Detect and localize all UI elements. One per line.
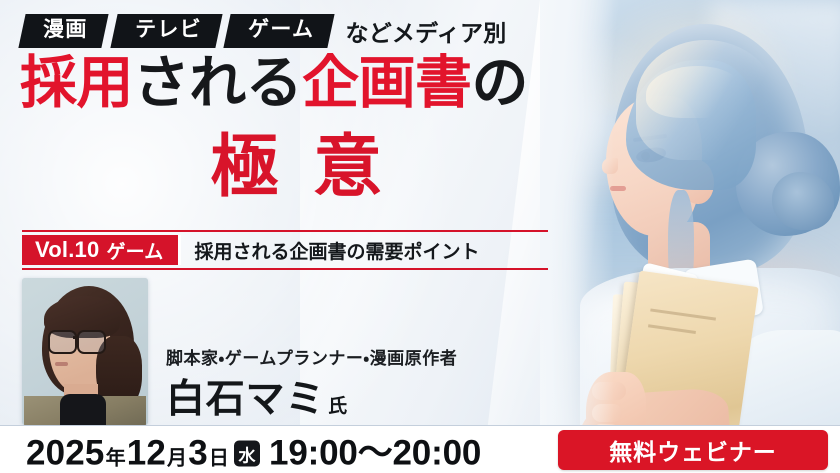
media-tag-tv: テレビ [110, 14, 222, 48]
speaker-photo-turtleneck [60, 394, 106, 425]
speaker-name-suffix: 氏 [328, 396, 348, 417]
volume-bar-rule-bottom [22, 268, 548, 270]
volume-badge: Vol.10 ゲーム [22, 235, 178, 265]
glasses-icon [48, 330, 104, 350]
event-year: 2025 [26, 433, 105, 473]
speaker-role: 脚本家・ゲームプランナー・漫画原作者 [166, 344, 457, 369]
glasses-lens-left [48, 330, 77, 354]
media-tag-row: 漫画 テレビ ゲーム などメディア別 [22, 14, 506, 48]
media-tag-manga: 漫画 [18, 14, 108, 48]
headline-no: の [471, 51, 527, 115]
speaker-photo-lip [55, 362, 68, 366]
headline-sareru: される [133, 51, 302, 115]
free-webinar-button[interactable]: 無料ウェビナー [558, 430, 828, 470]
illustration-hair-highlight [636, 40, 776, 160]
speaker-name: 白石マミ氏 [166, 368, 348, 424]
media-tag-trailing-text: などメディア別 [345, 14, 506, 48]
illustration-document-line [650, 308, 716, 320]
event-month: 12 [127, 433, 166, 473]
speaker-name-text: 白石マミ [166, 378, 325, 421]
media-tag-manga-label: 漫画 [43, 18, 88, 43]
glasses-lens-right [77, 330, 106, 354]
event-month-unit: 月 [167, 441, 187, 470]
headline-line-2: 極 意 [0, 132, 600, 203]
event-datetime: 2025年12月3日水19:00〜20:00 [26, 424, 481, 473]
event-time-range: 19:00〜20:00 [269, 424, 481, 473]
media-tag-game-label: ゲーム [248, 18, 314, 43]
media-tag-tv-label: テレビ [135, 18, 202, 43]
volume-subtitle: 採用される企画書の需要ポイント [181, 235, 480, 265]
volume-category: ゲーム [106, 237, 163, 264]
event-day: 3 [188, 433, 208, 473]
banner-content: 漫画 テレビ ゲーム などメディア別 採用される企画書の 極 意 Vol.10 … [0, 0, 600, 473]
webinar-banner: 漫画 テレビ ゲーム などメディア別 採用される企画書の 極 意 Vol.10 … [0, 0, 840, 473]
headline-line-1: 採用される企画書の [20, 54, 580, 113]
volume-bar-row: Vol.10 ゲーム 採用される企画書の需要ポイント [22, 235, 548, 265]
volume-bar-rule-top [22, 230, 548, 232]
headline-kikakusho: 企画書 [302, 51, 471, 115]
illustration-document-line [648, 324, 696, 334]
headline-saiyou: 採用 [20, 51, 133, 115]
volume-bar: Vol.10 ゲーム 採用される企画書の需要ポイント [22, 230, 548, 270]
volume-number: Vol.10 [35, 237, 99, 263]
event-year-unit: 年 [106, 441, 126, 470]
event-day-of-week-badge: 水 [234, 441, 260, 467]
media-tag-game: ゲーム [224, 14, 335, 48]
speaker-photo [22, 278, 148, 425]
footer-bar: 2025年12月3日水19:00〜20:00 無料ウェビナー [0, 425, 840, 473]
event-day-unit: 日 [209, 441, 229, 470]
